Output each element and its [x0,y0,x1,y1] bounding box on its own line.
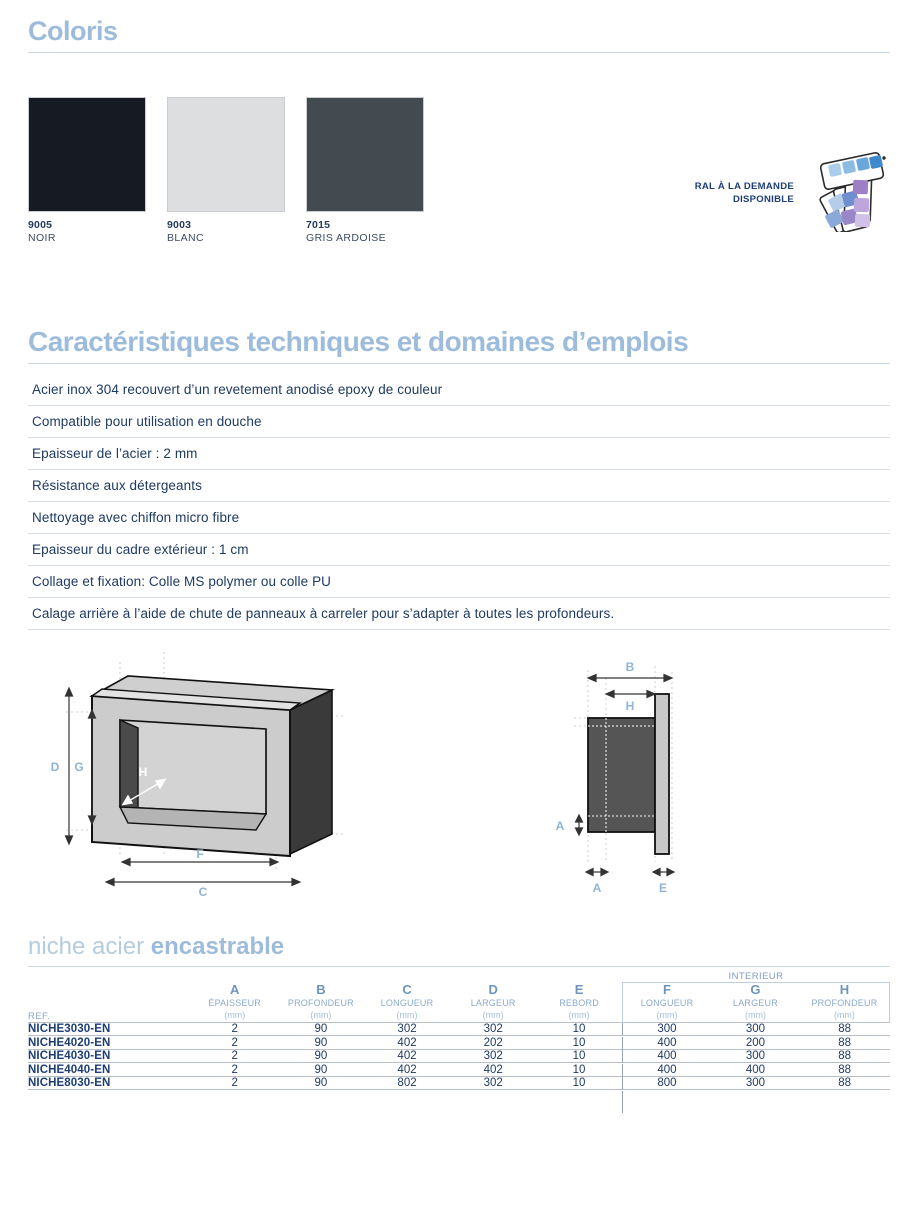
dimension-label-F: F [196,847,203,861]
cell-G: 300 [711,1023,800,1036]
column-letter: H [800,983,889,997]
caracteristiques-divider [28,363,890,364]
caracteristiques-section: Caractéristiques techniques et domaines … [28,328,890,630]
color-swatch-7015[interactable]: 7015 GRIS ARDOISE [306,97,445,244]
column-name: ÉPAISSEUR [192,997,278,1009]
cell-G: 300 [711,1050,800,1063]
group-label-interieur: INTERIEUR [622,971,889,983]
list-item: Epaisseur du cadre extérieur : 1 cm [28,534,890,566]
swatch-name: GRIS ARDOISE [306,232,445,244]
table-row: NICHE8030-EN 2 90 802 302 10 800 300 88 [28,1077,890,1090]
cell-G: 400 [711,1064,800,1077]
column-name: REBORD [536,997,622,1009]
column-name: LARGEUR [711,997,800,1009]
cell-F: 400 [622,1050,711,1063]
swatch-box [28,97,146,212]
specs-table-section: niche acier encastrable INTERIEUR REF. A… [28,935,890,1113]
column-header-ref: REF. [28,983,192,1023]
ral-badge-line1: RAL À LA DEMANDE [695,181,794,194]
ral-badge-line2: DISPONIBLE [695,194,794,207]
column-letter: F [623,983,711,997]
cell-C: 402 [364,1050,450,1063]
product-datasheet-page: Coloris 9005 NOIR 9003 BLANC 7015 GRIS A… [0,0,918,1216]
color-fan-icon [798,150,890,237]
column-name: LONGUEUR [623,997,711,1009]
column-unit: (mm) [536,1009,622,1021]
column-header-H: H PROFONDEUR (mm) [800,983,890,1023]
cell-E: 10 [536,1077,622,1090]
column-letter: E [536,983,622,997]
column-unit: (mm) [450,1009,536,1021]
column-header-B: B PROFONDEUR (mm) [278,983,364,1023]
cell-B: 90 [278,1037,364,1050]
cell-G: 200 [711,1037,800,1050]
cell-A: 2 [192,1064,278,1077]
column-name: PROFONDEUR [800,997,889,1009]
cell-A: 2 [192,1050,278,1063]
product-title-thin: niche acier [28,933,151,960]
table-row: NICHE4020-EN 2 90 402 202 10 400 200 88 [28,1037,890,1050]
cell-F: 400 [622,1037,711,1050]
cell-H: 88 [800,1064,890,1077]
column-letter: C [364,983,450,997]
cell-D: 302 [450,1023,536,1036]
cell-G: 300 [711,1077,800,1090]
swatch-code: 7015 [306,219,445,231]
swatch-box [306,97,424,212]
side-view: B H A A E [556,660,674,895]
dimension-label-H-side: H [626,699,635,713]
column-unit: (mm) [800,1009,889,1021]
column-header-E: E REBORD (mm) [536,983,622,1023]
dimension-label-A-side: A [556,819,565,833]
color-swatch-9003[interactable]: 9003 BLANC [167,97,306,244]
coloris-section: Coloris 9005 NOIR 9003 BLANC 7015 GRIS A… [28,0,890,244]
isometric-view: D G H F C [51,652,346,899]
cell-C: 802 [364,1077,450,1090]
dimension-label-E: E [659,881,667,895]
cell-B: 90 [278,1050,364,1063]
table-row: NICHE3030-EN 2 90 302 302 10 300 300 88 [28,1023,890,1036]
row-ref: NICHE4030-EN [28,1050,192,1063]
column-header-G: G LARGEUR (mm) [711,983,800,1023]
swatch-name: NOIR [28,232,167,244]
swatch-box [167,97,285,212]
list-item: Epaisseur de l’acier : 2 mm [28,438,890,470]
cell-E: 10 [536,1037,622,1050]
column-header-F: F LONGUEUR (mm) [622,983,711,1023]
coloris-divider [28,52,890,53]
dimension-label-D: D [51,760,60,774]
column-unit: (mm) [278,1009,364,1021]
column-unit: (mm) [711,1009,800,1021]
cell-D: 302 [450,1050,536,1063]
cell-H: 88 [800,1077,890,1090]
dimensions-table: INTERIEUR REF. A ÉPAISSEUR (mm) B PROFON… [28,971,890,1113]
column-unit: (mm) [364,1009,450,1021]
row-ref: NICHE4020-EN [28,1037,192,1050]
table-group-header-row: INTERIEUR [28,971,890,983]
cell-A: 2 [192,1023,278,1036]
niche-dimension-drawing: D G H F C [28,644,890,916]
cell-F: 800 [622,1077,711,1090]
cell-C: 302 [364,1023,450,1036]
table-row: NICHE4030-EN 2 90 402 302 10 400 300 88 [28,1050,890,1063]
cell-B: 90 [278,1064,364,1077]
column-letter: G [711,983,800,997]
list-item: Collage et fixation: Colle MS polymer ou… [28,566,890,598]
table-row: NICHE4040-EN 2 90 402 402 10 400 400 88 [28,1064,890,1077]
column-header-C: C LONGUEUR (mm) [364,983,450,1023]
list-item: Acier inox 304 recouvert d’un revetement… [28,374,890,406]
column-letter: B [278,983,364,997]
row-ref: NICHE4040-EN [28,1064,192,1077]
row-ref: NICHE3030-EN [28,1023,192,1036]
cell-A: 2 [192,1037,278,1050]
ral-badge-text: RAL À LA DEMANDE DISPONIBLE [695,181,794,207]
cell-C: 402 [364,1064,450,1077]
color-swatch-9005[interactable]: 9005 NOIR [28,97,167,244]
cell-D: 402 [450,1064,536,1077]
cell-A: 2 [192,1077,278,1090]
cell-B: 90 [278,1077,364,1090]
swatch-name: BLANC [167,232,306,244]
cell-E: 10 [536,1050,622,1063]
column-unit: (mm) [192,1009,278,1021]
list-item: Résistance aux détergeants [28,470,890,502]
dimension-label-C: C [199,885,208,899]
table-footer-spacer [28,1091,890,1113]
product-title-bold: encastrable [151,933,284,960]
dimension-label-B: B [626,660,635,674]
swatch-code: 9003 [167,219,306,231]
table-header-row: REF. A ÉPAISSEUR (mm) B PROFONDEUR (mm) … [28,983,890,1023]
cell-C: 402 [364,1037,450,1050]
list-item: Nettoyage avec chiffon micro fibre [28,502,890,534]
product-title: niche acier encastrable [28,935,890,959]
swatch-code: 9005 [28,219,167,231]
cell-D: 202 [450,1037,536,1050]
column-letter: A [192,983,278,997]
caracteristiques-list: Acier inox 304 recouvert d’un revetement… [28,374,890,630]
dimension-label-G: G [74,760,83,774]
cell-E: 10 [536,1064,622,1077]
cell-B: 90 [278,1023,364,1036]
coloris-heading: Coloris [28,18,890,45]
dimension-label-H: H [139,765,148,779]
cell-H: 88 [800,1037,890,1050]
caracteristiques-heading: Caractéristiques techniques et domaines … [28,328,890,356]
column-name: LARGEUR [450,997,536,1009]
technical-drawing-section: D G H F C [28,644,890,921]
cell-H: 88 [800,1023,890,1036]
ral-on-demand-badge: RAL À LA DEMANDE DISPONIBLE [695,150,890,237]
product-title-divider [28,966,890,967]
column-header-A: A ÉPAISSEUR (mm) [192,983,278,1023]
column-name: LONGUEUR [364,997,450,1009]
dimension-label-A-bottom: A [593,881,602,895]
cell-F: 400 [622,1064,711,1077]
column-unit: (mm) [623,1009,711,1021]
column-letter: D [450,983,536,997]
list-item: Compatible pour utilisation en douche [28,406,890,438]
column-header-D: D LARGEUR (mm) [450,983,536,1023]
list-item: Calage arrière à l’aide de chute de pann… [28,598,890,630]
cell-F: 300 [622,1023,711,1036]
cell-H: 88 [800,1050,890,1063]
column-name: PROFONDEUR [278,997,364,1009]
cell-E: 10 [536,1023,622,1036]
row-ref: NICHE8030-EN [28,1077,192,1090]
cell-D: 302 [450,1077,536,1090]
